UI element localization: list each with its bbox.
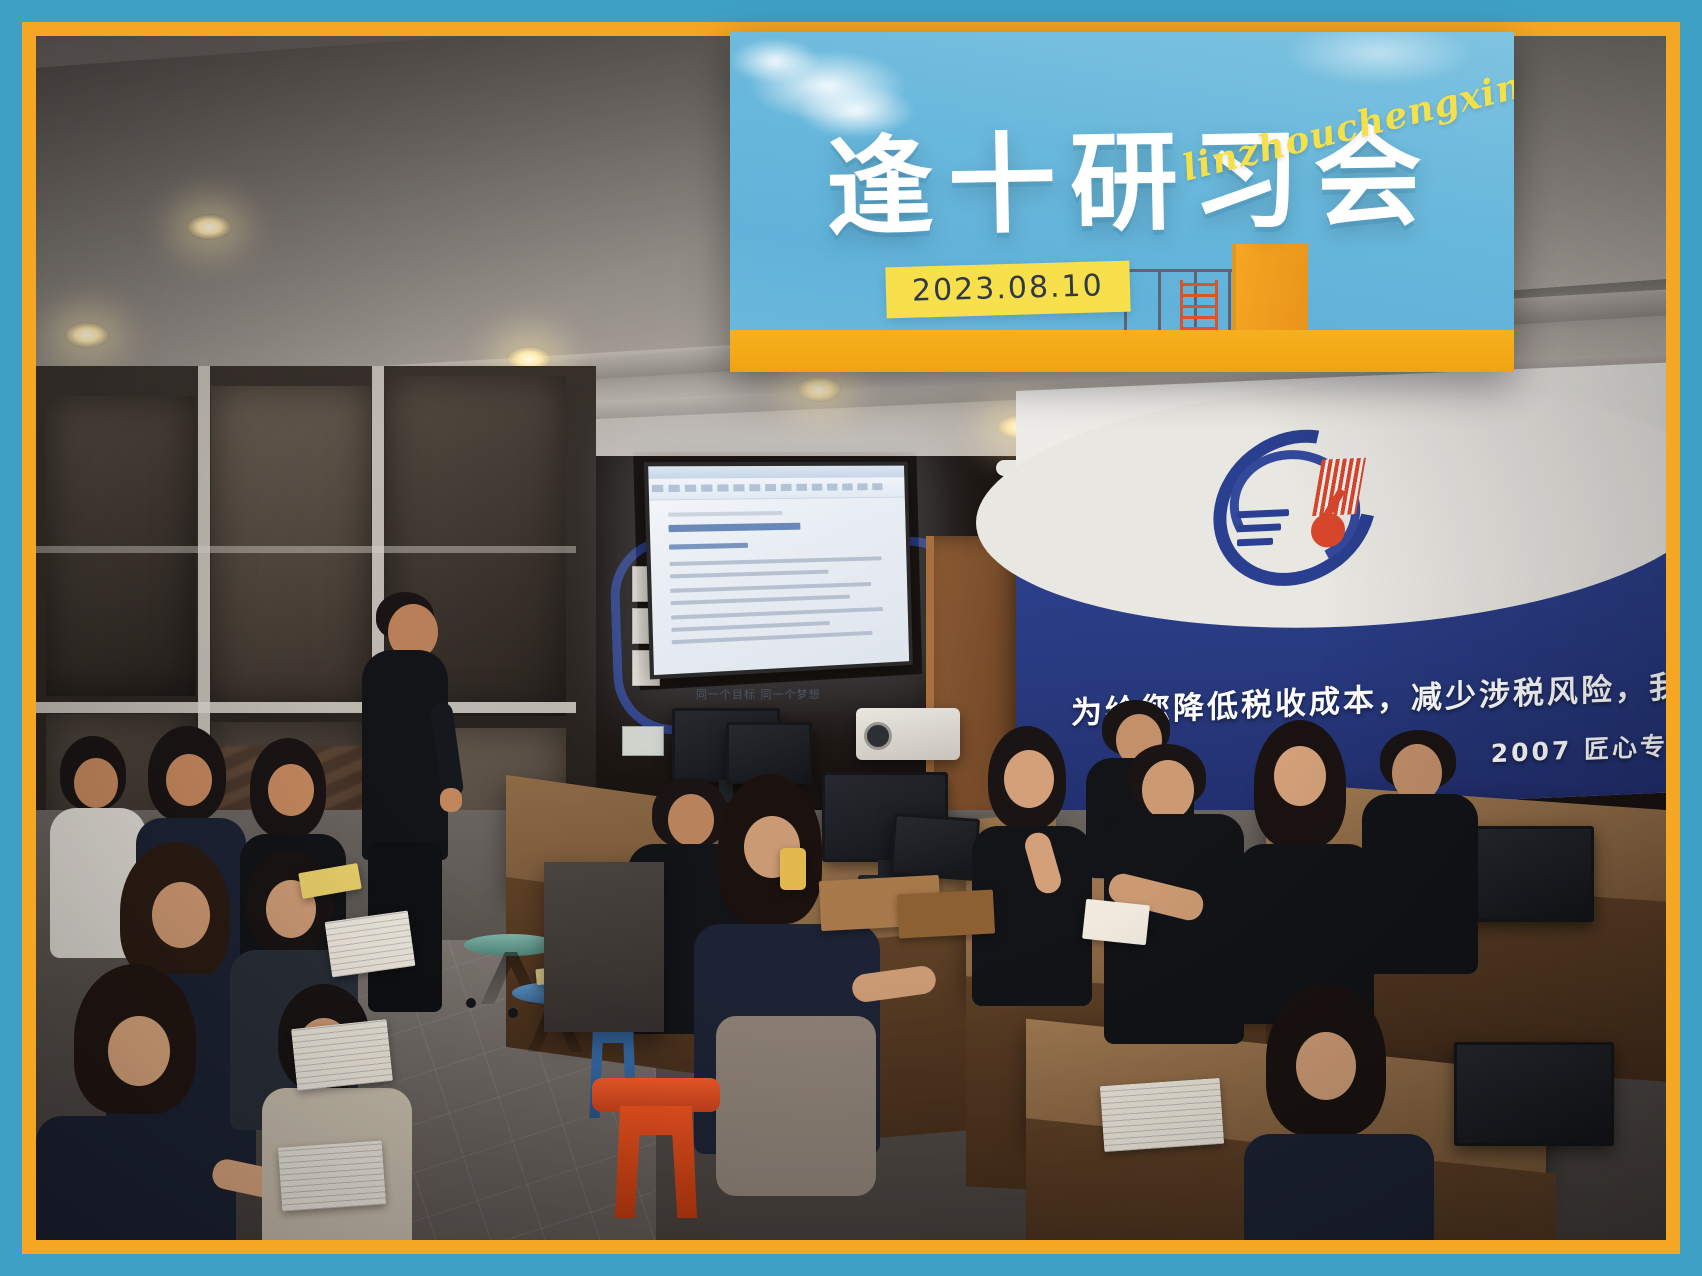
- bottle: [780, 848, 806, 890]
- projected-document: [648, 466, 909, 675]
- computer-monitor: [1454, 1042, 1614, 1146]
- window-mullion: [36, 546, 576, 553]
- document-body: [649, 498, 908, 646]
- projector-device: [856, 708, 960, 760]
- orange-block-graphic: [1232, 244, 1308, 330]
- notebook: [325, 910, 416, 977]
- ceiling-downlight: [64, 322, 110, 348]
- company-circle-logo-icon: [1211, 429, 1379, 586]
- image-canvas: 同一个目标 同一个梦想: [0, 0, 1702, 1276]
- right-branded-wall: 为给您降低税收成本，减少涉税风险，我们一直在努力 2007 匠心专: [1016, 362, 1666, 821]
- wall-poster: [622, 726, 664, 756]
- doc-line: [670, 556, 882, 566]
- wall-subtext: 2007 匠心专: [1491, 727, 1666, 771]
- paper-sheet: [1082, 899, 1150, 945]
- projection-screen: [644, 462, 913, 680]
- computer-monitor: [890, 813, 980, 881]
- doc-line: [671, 621, 829, 632]
- doc-line: [671, 595, 851, 606]
- doc-heading: [668, 523, 800, 532]
- notebook: [278, 1140, 386, 1211]
- banner-date-badge: 2023.08.10: [885, 261, 1130, 319]
- document-ribbon-toolbar: [649, 477, 905, 500]
- doc-subheading: [669, 543, 748, 550]
- ceiling-downlight: [796, 376, 842, 402]
- notebook: [1100, 1078, 1224, 1152]
- doc-line: [670, 570, 828, 579]
- cloud: [730, 38, 820, 84]
- side-cabinet: [544, 862, 664, 1032]
- notebook: [291, 1019, 393, 1091]
- doc-line: [670, 582, 871, 593]
- window-mullion: [36, 702, 576, 713]
- banner-date-text: 2023.08.10: [912, 268, 1105, 308]
- doc-line: [671, 607, 883, 620]
- event-banner-overlay: 逢十研习会 linzhouchengxin 2023.08.10: [730, 32, 1514, 372]
- doc-line: [672, 631, 873, 644]
- wall-caption-text: 同一个目标 同一个梦想: [696, 686, 821, 702]
- ceiling-downlight: [186, 214, 232, 240]
- banner-ground-bar: [730, 330, 1514, 372]
- stool-orange: [592, 1078, 720, 1218]
- wooden-box: [897, 890, 995, 939]
- doc-line: [668, 511, 782, 517]
- ladder-graphic: [1180, 280, 1218, 330]
